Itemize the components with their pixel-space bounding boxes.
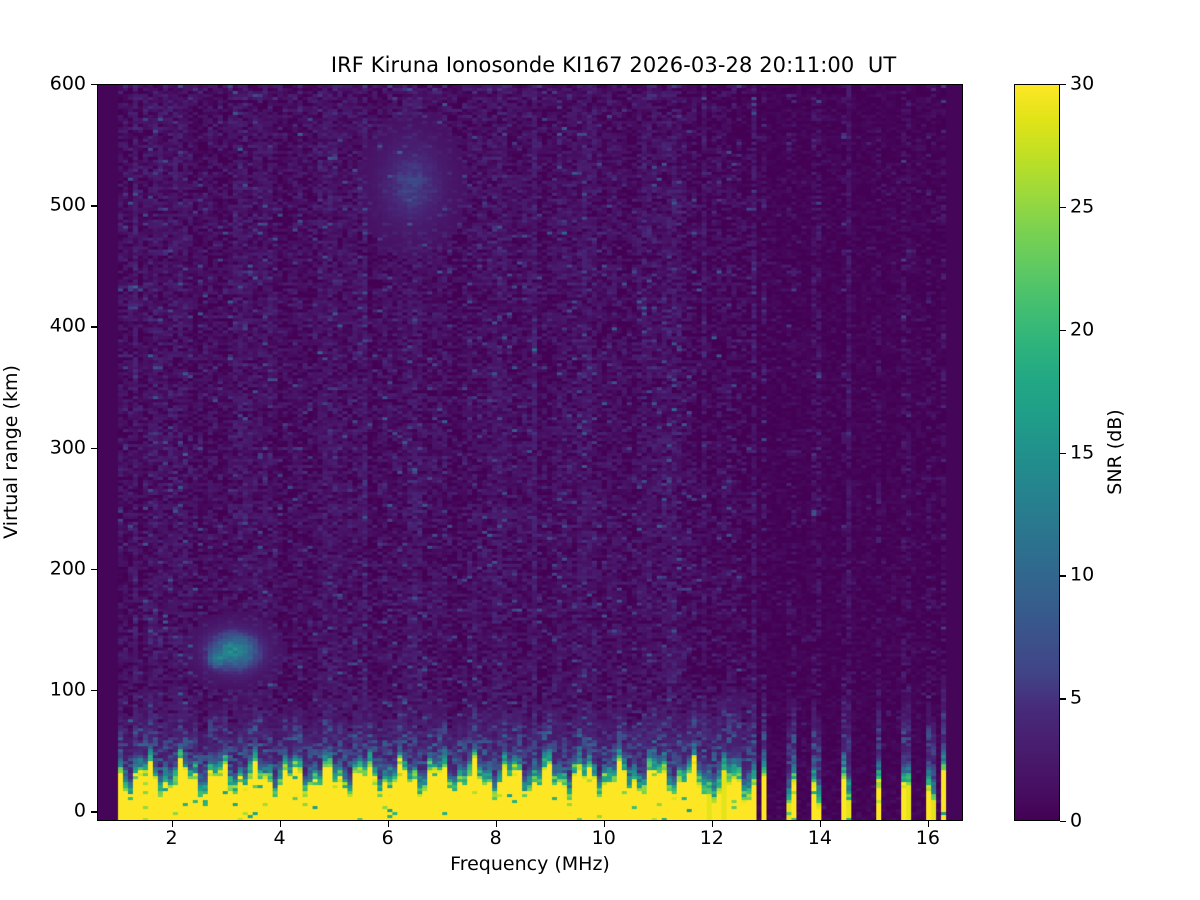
y-tick-label: 400 — [50, 317, 86, 336]
colorbar-tick-label: 30 — [1070, 75, 1094, 94]
colorbar-tick-mark — [1060, 84, 1066, 85]
colorbar-title: SNR (dB) — [1104, 409, 1126, 494]
x-tick-label: 6 — [382, 829, 394, 848]
x-tick-label: 8 — [490, 829, 502, 848]
ionogram-plot-area[interactable] — [97, 84, 963, 821]
x-tick-label: 2 — [166, 829, 178, 848]
colorbar-tick-label: 0 — [1070, 812, 1082, 831]
y-tick-mark — [91, 205, 97, 206]
y-axis-title: Virtual range (km) — [0, 365, 22, 539]
y-tick-label: 200 — [50, 559, 86, 578]
x-tick-label: 16 — [916, 829, 940, 848]
colorbar-tick-mark — [1060, 207, 1066, 208]
colorbar-tick-mark — [1060, 453, 1066, 454]
colorbar-tick-label: 15 — [1070, 443, 1094, 462]
colorbar-tick-mark — [1060, 821, 1066, 822]
y-tick-mark — [91, 326, 97, 327]
y-tick-mark — [91, 811, 97, 812]
colorbar-tick-mark — [1060, 698, 1066, 699]
y-tick-label: 100 — [50, 681, 86, 700]
y-tick-label: 600 — [50, 75, 86, 94]
x-axis-title: Frequency (MHz) — [97, 853, 963, 875]
colorbar-tick-label: 5 — [1070, 689, 1082, 708]
ionogram-figure: IRF Kiruna Ionosonde KI167 2026-03-28 20… — [0, 0, 1200, 900]
colorbar-tick-mark — [1060, 330, 1066, 331]
y-tick-mark — [91, 84, 97, 85]
colorbar[interactable] — [1014, 84, 1060, 821]
colorbar-tick-mark — [1060, 575, 1066, 576]
colorbar-tick-label: 25 — [1070, 197, 1094, 216]
colorbar-tick-label: 20 — [1070, 320, 1094, 339]
y-tick-label: 0 — [74, 802, 86, 821]
y-tick-label: 500 — [50, 196, 86, 215]
colorbar-tick-label: 10 — [1070, 566, 1094, 585]
x-tick-label: 4 — [274, 829, 286, 848]
x-tick-label: 14 — [808, 829, 832, 848]
y-tick-mark — [91, 448, 97, 449]
y-tick-mark — [91, 569, 97, 570]
x-tick-label: 12 — [700, 829, 724, 848]
y-tick-mark — [91, 690, 97, 691]
ionogram-heatmap-canvas — [98, 85, 962, 820]
y-tick-label: 300 — [50, 438, 86, 457]
x-tick-label: 10 — [592, 829, 616, 848]
title-line-1: IRF Kiruna Ionosonde KI167 2026-03-28 20… — [331, 53, 896, 77]
